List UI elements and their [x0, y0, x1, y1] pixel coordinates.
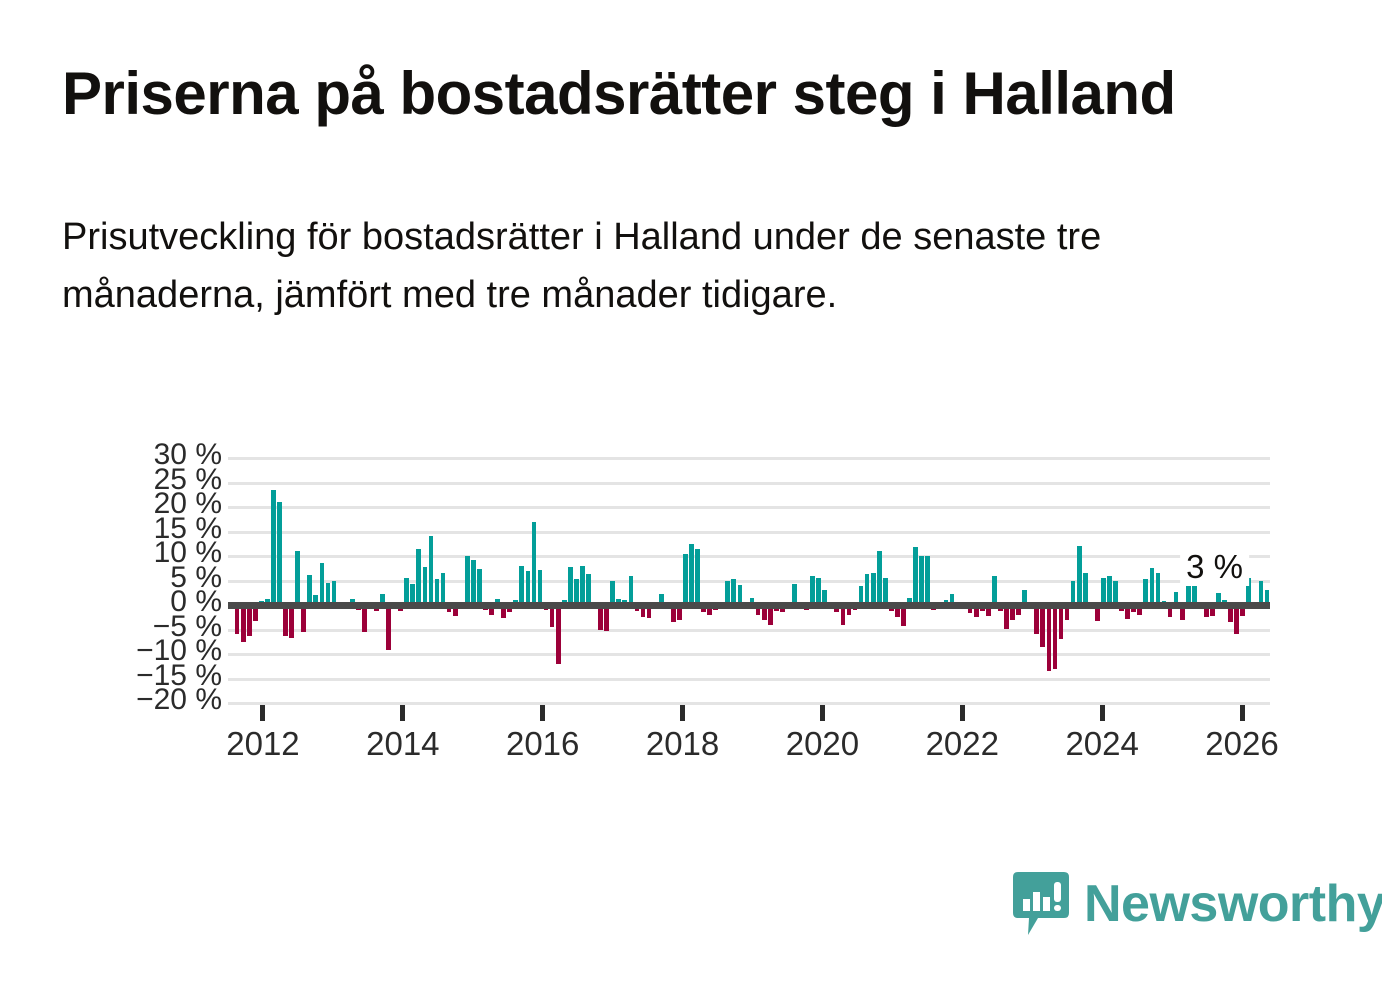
- chart-bar: [913, 547, 918, 605]
- chart-bar: [883, 578, 888, 605]
- chart-bar: [416, 549, 421, 605]
- chart-bar: [925, 556, 930, 605]
- x-axis: 20122014201620182020202220242026: [228, 703, 1270, 763]
- x-axis-tick-mark: [400, 705, 405, 721]
- x-axis-tick-mark: [1100, 705, 1105, 721]
- gridline: [228, 531, 1270, 534]
- bar-chart: 30 %25 %20 %15 %10 %5 %0 %−5 %−10 %−15 %…: [0, 440, 1382, 770]
- chart-bar: [519, 566, 524, 605]
- chart-bar: [441, 573, 446, 605]
- chart-bar: [465, 556, 470, 605]
- chart-bar: [1040, 605, 1045, 647]
- page-subtitle: Prisutveckling för bostadsrätter i Halla…: [62, 208, 1182, 324]
- chart-bar: [429, 536, 434, 605]
- chart-bar: [580, 566, 585, 605]
- x-axis-tick-mark: [1240, 705, 1245, 721]
- x-axis-line: [228, 703, 1270, 705]
- x-axis-tick-label: 2012: [226, 725, 299, 763]
- chart-bar: [235, 605, 240, 634]
- x-axis-tick-mark: [960, 705, 965, 721]
- x-axis-tick-label: 2020: [786, 725, 859, 763]
- infographic-page: Priserna på bostadsrätter steg i Halland…: [0, 0, 1382, 999]
- y-axis-tick-label: −20 %: [136, 685, 222, 715]
- chart-bar: [362, 605, 367, 632]
- gridline: [228, 678, 1270, 681]
- chart-bar: [295, 551, 300, 605]
- chart-bar: [1077, 546, 1082, 605]
- chart-bar: [877, 551, 882, 605]
- gridline: [228, 482, 1270, 485]
- x-axis-tick-mark: [540, 705, 545, 721]
- chart-bar: [1083, 573, 1088, 605]
- chart-bar: [683, 554, 688, 605]
- chart-bar: [301, 605, 306, 632]
- x-axis-tick-label: 2014: [366, 725, 439, 763]
- chart-bar: [477, 569, 482, 605]
- chart-plot-area: 3 %: [228, 458, 1270, 703]
- chart-bar: [247, 605, 252, 636]
- chart-bar: [538, 570, 543, 605]
- chart-bar: [404, 578, 409, 605]
- zero-baseline: [228, 602, 1270, 609]
- chart-bar: [689, 544, 694, 605]
- chart-bar: [1059, 605, 1064, 639]
- x-axis-tick-label: 2018: [646, 725, 719, 763]
- x-axis-tick-mark: [820, 705, 825, 721]
- newsworthy-chat-bars-icon: [1012, 871, 1070, 937]
- chart-bar: [816, 578, 821, 605]
- chart-bar: [568, 567, 573, 605]
- chart-bar: [1047, 605, 1052, 671]
- x-axis-tick-mark: [680, 705, 685, 721]
- chart-bar: [810, 576, 815, 605]
- chart-bar: [532, 522, 537, 605]
- chart-bar: [556, 605, 561, 664]
- chart-bar: [423, 567, 428, 605]
- chart-bar: [283, 605, 288, 636]
- chart-bar: [277, 502, 282, 605]
- x-axis-tick-label: 2024: [1065, 725, 1138, 763]
- gridline: [228, 555, 1270, 558]
- chart-bar: [629, 576, 634, 605]
- chart-bar: [1156, 573, 1161, 605]
- newsworthy-logo[interactable]: Newsworthy: [1012, 871, 1382, 937]
- chart-bar: [919, 556, 924, 605]
- chart-bar: [289, 605, 294, 638]
- chart-bar: [992, 576, 997, 605]
- chart-bar: [1053, 605, 1058, 669]
- chart-bar: [271, 490, 276, 605]
- chart-bar: [871, 573, 876, 605]
- x-axis-tick-mark: [260, 705, 265, 721]
- chart-bar: [386, 605, 391, 650]
- gridline: [228, 506, 1270, 509]
- gridline: [228, 653, 1270, 656]
- gridline: [228, 629, 1270, 632]
- chart-bar: [1234, 605, 1239, 634]
- chart-bar: [1101, 578, 1106, 605]
- chart-bar: [307, 575, 312, 605]
- y-axis-labels: 30 %25 %20 %15 %10 %5 %0 %−5 %−10 %−15 %…: [0, 458, 222, 703]
- brand-name: Newsworthy: [1084, 878, 1382, 930]
- chart-bar: [865, 574, 870, 605]
- x-axis-tick-label: 2016: [506, 725, 579, 763]
- chart-bar: [695, 549, 700, 605]
- chart-bar: [1150, 568, 1155, 605]
- page-title: Priserna på bostadsrätter steg i Halland: [62, 62, 1342, 125]
- chart-bar: [320, 563, 325, 605]
- gridline: [228, 457, 1270, 460]
- x-axis-tick-label: 2026: [1205, 725, 1278, 763]
- chart-bar: [241, 605, 246, 642]
- chart-bar: [586, 574, 591, 605]
- chart-bar: [1107, 576, 1112, 605]
- last-value-annotation: 3 %: [1180, 548, 1249, 586]
- x-axis-tick-label: 2022: [926, 725, 999, 763]
- chart-bar: [526, 571, 531, 605]
- chart-bar: [471, 560, 476, 605]
- chart-bar: [1034, 605, 1039, 634]
